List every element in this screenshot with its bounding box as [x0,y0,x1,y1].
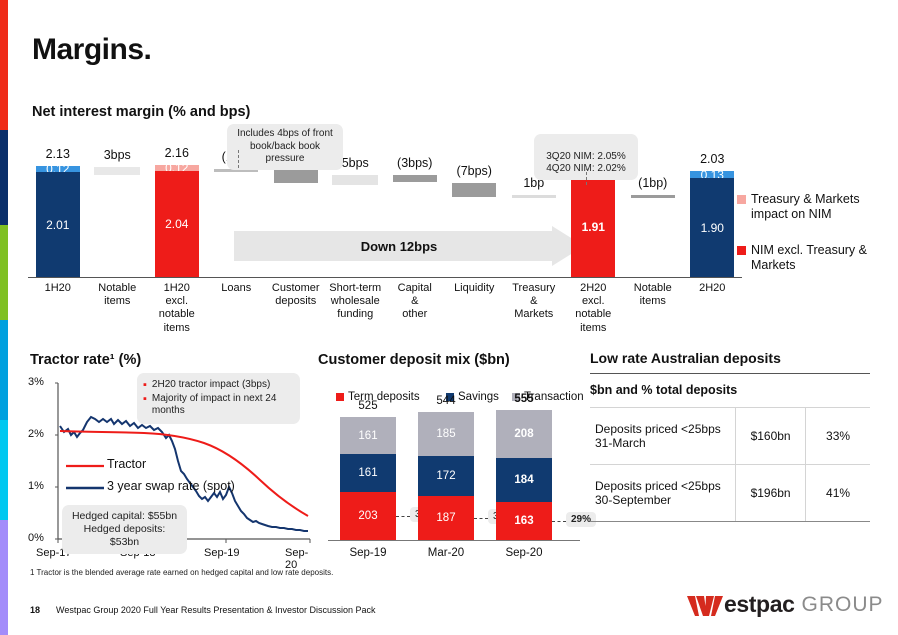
edge-strip-segment [0,420,8,520]
row-amount: $196bn [736,465,806,522]
deposit-segment-savings: 172 [418,456,474,496]
tractor-y-tick-0: 0% [28,532,44,544]
table-row: Deposits priced <25bps 31-March $160bn 3… [590,408,870,465]
waterfall-column-notable-items: 3bpsNotableitems [88,125,148,330]
waterfall-stacked-bar: 0.122.04 [155,165,199,277]
waterfall-connector-bar [512,195,556,198]
net-interest-margin-waterfall-chart: Down 12bps 0.122.012.131H203bpsNotableit… [28,125,768,330]
customer-deposit-mix-chart: Term deposits Savings Transaction 525161… [318,375,583,565]
deposit-bar-sep-19: 525161161203Sep-19 [340,375,396,565]
waterfall-connector-bar [94,167,140,175]
deposit-total-label: 555 [496,393,552,405]
nim-section-heading: Net interest margin (% and bps) [32,104,250,120]
waterfall-value-label: 3bps [88,148,148,162]
deposit-total-label: 525 [340,400,396,412]
deposit-bar-mar-20: 544185172187Mar-20 [418,375,474,565]
legend-item-treasury-markets: Treasury & Markets impact on NIM [737,192,897,221]
waterfall-column-capital-other: (3bps)Capital&other [385,125,445,330]
low-rate-table: Deposits priced <25bps 31-March $160bn 3… [590,407,870,522]
edge-color-strip [0,0,8,635]
waterfall-category-label: 1H20 [28,282,88,295]
page-title: Margins. [32,33,151,67]
waterfall-connector-bar [332,175,378,185]
waterfall-column-1h20: 0.122.012.131H20 [28,125,88,330]
page-number: 18 [30,605,40,615]
row-label: Deposits priced <25bps 30-September [590,465,736,522]
deposit-segment-savings: 184 [496,458,552,501]
deposit-total-label: 544 [418,395,474,407]
row-pct: 33% [806,408,870,465]
edge-strip-segment [0,320,8,420]
tractor-chart-title: Tractor rate¹ (%) [30,352,141,368]
legend-label: Treasury & Markets impact on NIM [751,192,897,221]
waterfall-connector-bar [393,175,437,182]
callout-hedged-amounts: Hedged capital: $55bn Hedged deposits: $… [62,505,187,554]
low-rate-title: Low rate Australian deposits [590,350,870,366]
waterfall-category-label: Treasury&Markets [504,282,564,322]
deposit-bar-sep-20: 555208184163Sep-20 [496,375,552,565]
logo-group-text: GROUP [801,593,883,617]
deposit-category-label: Mar-20 [418,547,474,559]
waterfall-value-label: (3bps) [385,156,445,170]
deposit-segment-savings: 161 [340,454,396,492]
bullet-icon: ▪ [143,379,147,391]
waterfall-value-label: 2.03 [683,152,743,166]
callout-front-book-pressure: Includes 4bps of front book/back book pr… [227,124,343,170]
waterfall-category-label: 2H20excl.notableitems [564,282,624,335]
logo-wordmark: estpac [724,591,794,618]
footer-text: Westpac Group 2020 Full Year Results Pre… [56,605,376,615]
low-rate-deposits-panel: Low rate Australian deposits $bn and % t… [590,350,870,522]
row-pct: 41% [806,465,870,522]
westpac-w-icon [686,592,724,618]
deposit-segment-term: 163 [496,502,552,540]
deposit-category-label: Sep-19 [340,547,396,559]
legend-item-nim-excl-treasury: NIM excl. Treasury & Markets [737,243,897,272]
callout-bullet-2: Majority of impact in next 24 months [152,393,292,418]
legend-swatch-icon [737,195,746,204]
tractor-x-tick-sep19: Sep-19 [204,547,239,559]
deposit-segment-term: 187 [418,496,474,540]
callout-quarterly-connector [586,167,587,185]
low-rate-title-rule [590,373,870,374]
legend-label: NIM excl. Treasury & Markets [751,243,897,272]
callout-bullet-1: 2H20 tractor impact (3bps) [152,379,270,392]
waterfall-category-label: Customerdeposits [266,282,326,308]
deposit-pct-connector [552,521,566,522]
deposit-category-label: Sep-20 [496,547,552,559]
row-amount: $160bn [736,408,806,465]
waterfall-segment-treasury: 0.13 [690,171,734,178]
deposit-mix-title: Customer deposit mix ($bn) [318,352,510,368]
waterfall-stacked-bar: 0.131.91 [571,171,615,277]
waterfall-category-label: Notableitems [88,282,148,308]
low-rate-subtitle: $bn and % total deposits [590,383,870,397]
deposit-pct-connector [396,516,410,517]
waterfall-segment-nim-excl: 2.04 [155,171,199,277]
hedged-capital-label: Hedged capital: $55bn [69,510,180,523]
waterfall-connector-bar [452,183,496,197]
waterfall-stacked-bar: 0.131.90 [690,171,734,277]
waterfall-connector-bar [274,169,318,183]
waterfall-category-label: 1H20excl.notableitems [147,282,207,335]
tractor-y-tick-3: 3% [28,376,44,388]
deposit-segment-transaction: 161 [340,417,396,455]
tractor-legend-line-icon [66,463,104,469]
tractor-legend-label-swap: 3 year swap rate (spot) [107,479,235,493]
bullet-icon: ▪ [143,393,147,405]
waterfall-segment-nim-excl: 1.90 [690,178,734,277]
waterfall-category-label: Capital&other [385,282,445,322]
callout-front-book-connector [238,150,239,168]
legend-swatch-icon [737,246,746,255]
waterfall-segment-nim-excl: 1.91 [571,178,615,277]
tractor-y-tick-1: 1% [28,480,44,492]
waterfall-connector-bar [631,195,675,198]
waterfall-stacked-bar: 0.122.01 [36,166,80,277]
waterfall-value-label: 2.16 [147,146,207,160]
deposit-pct-connector [474,518,488,519]
waterfall-value-label: (7bps) [445,164,505,178]
tractor-legend-label-tractor: Tractor [107,457,146,471]
waterfall-column-liquidity: (7bps)Liquidity [445,125,505,330]
waterfall-category-label: Loans [207,282,267,295]
westpac-group-logo: estpac GROUP [686,591,884,618]
edge-strip-segment [0,520,8,635]
callout-tractor-impact: ▪ 2H20 tractor impact (3bps) ▪ Majority … [137,373,300,424]
waterfall-category-label: Notableitems [623,282,683,308]
deposit-segment-transaction: 185 [418,412,474,455]
footnote-text: 1 Tractor is the blended average rate ea… [30,568,333,577]
swap-legend-line-icon [66,485,104,491]
edge-strip-segment [0,130,8,225]
deposit-segment-transaction: 208 [496,410,552,459]
waterfall-category-label: Short-termwholesalefunding [326,282,386,322]
deposit-segment-term: 203 [340,492,396,540]
waterfall-category-label: 2H20 [683,282,743,295]
edge-strip-segment [0,225,8,320]
waterfall-column-2h20: 0.131.902.032H20 [683,125,743,330]
waterfall-legend: Treasury & Markets impact on NIM NIM exc… [737,192,897,294]
hedged-deposits-label: Hedged deposits: $53bn [69,523,180,549]
waterfall-segment-nim-excl: 2.01 [36,172,80,277]
waterfall-value-label: 2.13 [28,147,88,161]
waterfall-category-label: Liquidity [445,282,505,295]
waterfall-column-1h20-excl-notable-items: 0.122.042.161H20excl.notableitems [147,125,207,330]
table-row: Deposits priced <25bps 30-September $196… [590,465,870,522]
row-label: Deposits priced <25bps 31-March [590,408,736,465]
edge-strip-segment [0,0,8,130]
tractor-y-tick-2: 2% [28,428,44,440]
